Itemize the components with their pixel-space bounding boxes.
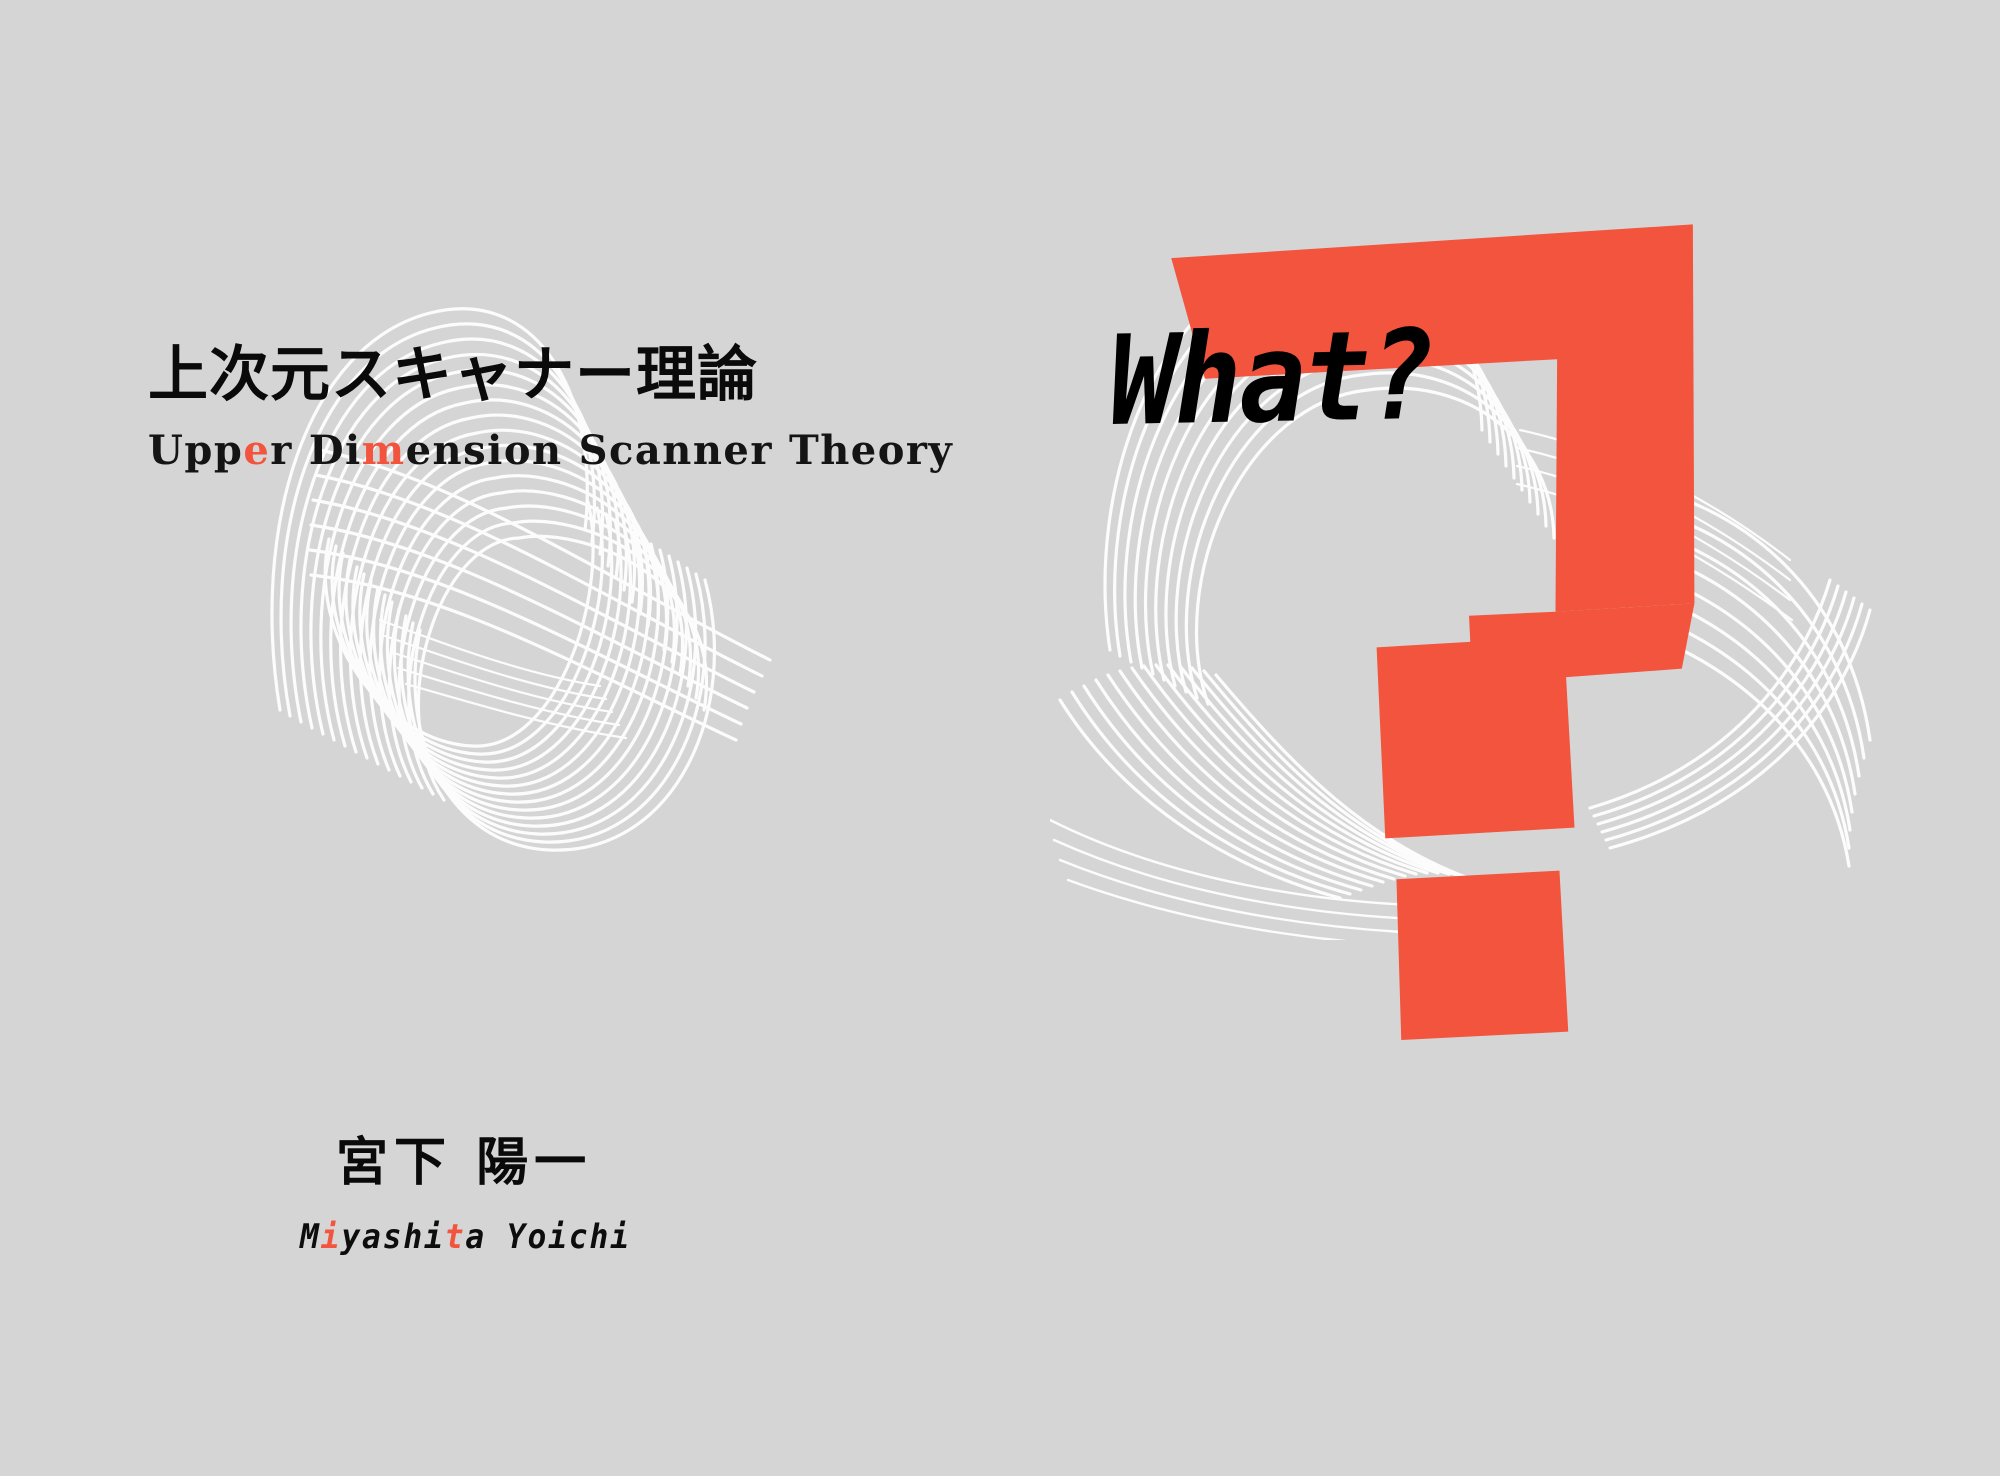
author-romaji-accent-t: t [445, 1217, 466, 1257]
title-en-accent-e: e [243, 427, 270, 474]
question-mark-graphic: What? [1130, 185, 1850, 905]
author-romaji-seg: a Yoichi [465, 1217, 630, 1257]
author-romaji-accent-i: i [321, 1217, 342, 1257]
title-english: UpperDimensionScannerTheory [148, 427, 908, 474]
title-en-seg: ension [406, 427, 563, 474]
title-en-seg: Theory [789, 427, 953, 474]
title-block: 上次元スキャナー理論 UpperDimensionScannerTheory [148, 345, 908, 474]
title-japanese: 上次元スキャナー理論 [148, 345, 908, 405]
title-en-seg: Upp [148, 427, 243, 474]
spirograph-wireframe-left-icon [130, 150, 850, 910]
title-en-accent-m: m [362, 427, 406, 474]
title-en-seg: Scanner [579, 427, 773, 474]
author-romaji-seg: M [300, 1217, 321, 1257]
question-mark-icon [1130, 185, 1850, 905]
author-romaji: Miyashita Yoichi [300, 1217, 631, 1257]
author-romaji-seg: yashi [341, 1217, 444, 1257]
presentation-slide: 上次元スキャナー理論 UpperDimensionScannerTheory 宮… [0, 0, 2000, 1476]
author-japanese: 宮下 陽一 [336, 1120, 660, 1195]
title-en-seg: Di [309, 427, 362, 474]
title-en-seg: r [270, 427, 293, 474]
author-block: 宮下 陽一 Miyashita Yoichi [336, 1120, 660, 1257]
